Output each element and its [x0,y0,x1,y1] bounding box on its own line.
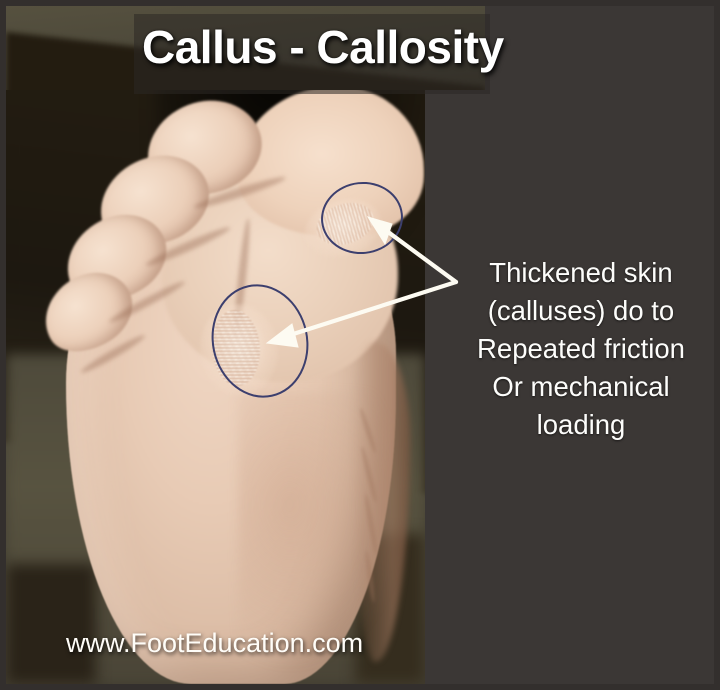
caption-line-5: loading [446,406,716,444]
caption-line-4: Or mechanical [446,368,716,406]
foot-photograph [6,6,425,684]
site-watermark: www.FootEducation.com [66,628,363,659]
caption-line-1: Thickened skin [446,254,716,292]
caption-line-3: Repeated friction [446,330,716,368]
foot-sole [42,92,414,684]
annotation-caption: Thickened skin (calluses) do to Repeated… [446,254,716,444]
page-title: Callus - Callosity [142,20,612,74]
caption-line-2: (calluses) do to [446,292,716,330]
slide-container: Callus - Callosity Thickened skin (callu… [0,0,720,690]
